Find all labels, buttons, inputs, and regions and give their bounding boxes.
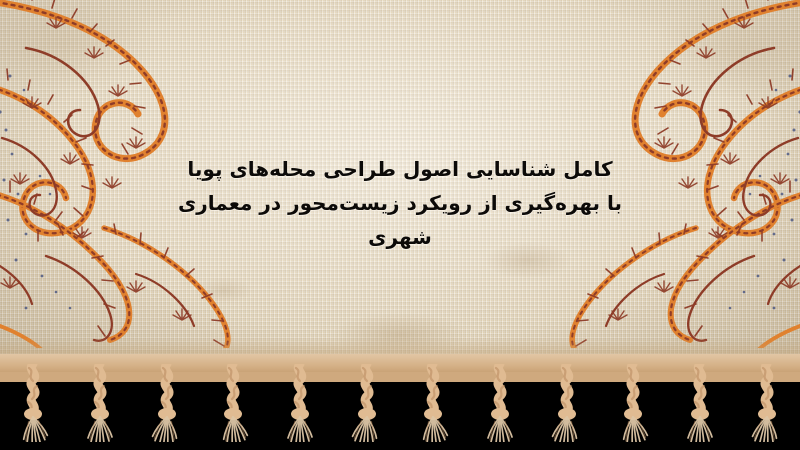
tassel (613, 364, 653, 442)
tassel (480, 364, 520, 442)
slide-canvas: کامل شناسایی اصول طراحی محله‌های پویا با… (0, 0, 800, 450)
tassel (13, 364, 53, 442)
tassel (413, 364, 453, 442)
tassel-fringe (0, 354, 800, 450)
tassel (680, 364, 720, 442)
tassel (80, 364, 120, 442)
tassel (747, 364, 787, 442)
tassel (347, 364, 387, 442)
tassel (280, 364, 320, 442)
tassel (213, 364, 253, 442)
title-line-3: شهری (0, 220, 800, 254)
slide-title: کامل شناسایی اصول طراحی محله‌های پویا با… (0, 152, 800, 254)
title-line-2: با بهره‌گیری از رویکرد زیست‌محور در معما… (0, 186, 800, 220)
tassel (547, 364, 587, 442)
title-line-1: کامل شناسایی اصول طراحی محله‌های پویا (0, 152, 800, 186)
tassel (147, 364, 187, 442)
